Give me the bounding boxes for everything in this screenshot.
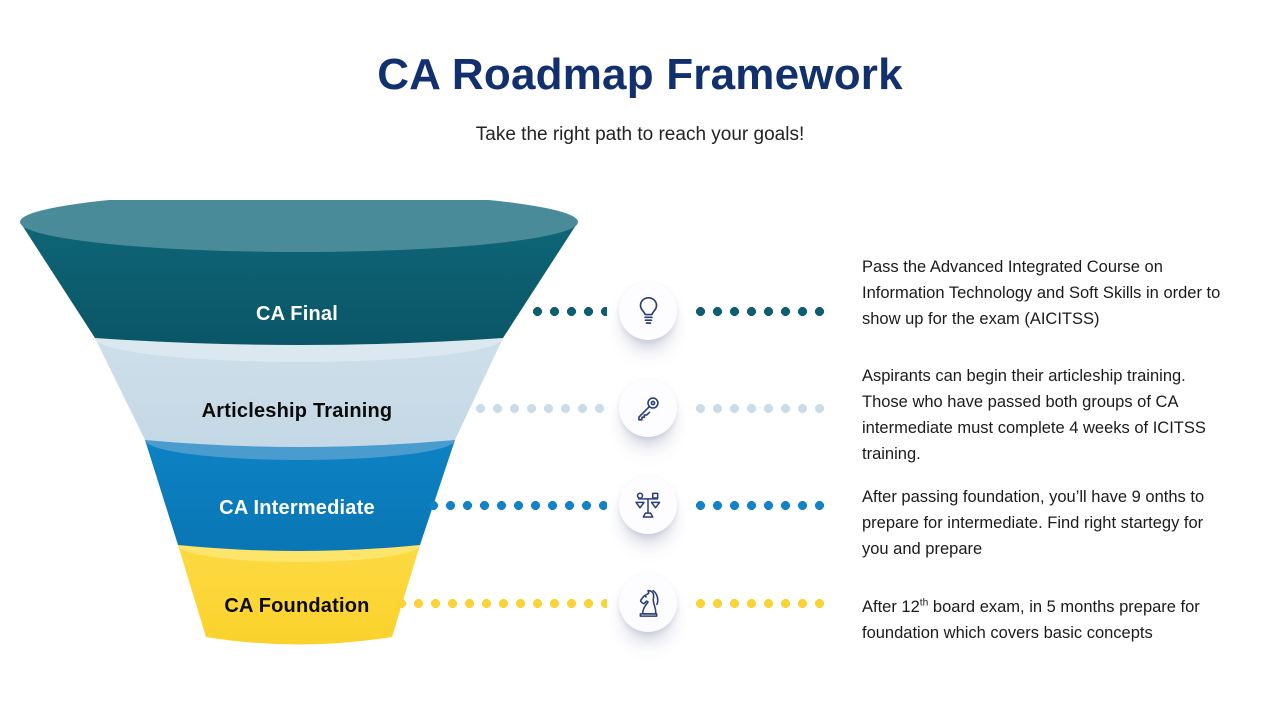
stage-description-ca-intermediate: After passing foundation, you’ll have 9 … <box>862 484 1234 562</box>
stage-icon-bubble-ca-foundation[interactable] <box>619 574 677 632</box>
connector-dots-left-ca-intermediate <box>425 501 607 510</box>
stage-icon-bubble-ca-final[interactable] <box>619 282 677 340</box>
key-icon <box>634 394 662 422</box>
connector-dots-left-articleship-training <box>472 404 607 413</box>
connector-dots-left-ca-final <box>529 307 607 316</box>
funnel-stage-ca-final[interactable] <box>20 200 578 345</box>
connector-dots-right-ca-foundation <box>692 599 825 608</box>
page-subtitle: Take the right path to reach your goals! <box>0 124 1280 146</box>
infographic-canvas: CA Roadmap Framework Take the right path… <box>0 0 1280 720</box>
lightbulb-icon <box>635 296 662 326</box>
connector-dots-right-ca-intermediate <box>692 501 825 510</box>
stage-icon-bubble-articleship-training[interactable] <box>619 379 677 437</box>
stage-description-articleship-training: Aspirants can begin their articleship tr… <box>862 363 1234 467</box>
connector-dots-right-articleship-training <box>692 404 825 413</box>
page-title: CA Roadmap Framework <box>0 52 1280 98</box>
stage-icon-bubble-ca-intermediate[interactable] <box>619 476 677 534</box>
stage-description-ca-final: Pass the Advanced Integrated Course on I… <box>862 254 1234 332</box>
balance-scale-icon <box>634 492 662 519</box>
connector-dots-right-ca-final <box>692 307 825 316</box>
chess-knight-icon <box>635 589 662 618</box>
connector-dots-left-ca-foundation <box>393 599 607 608</box>
stage-description-prefix: After 12 <box>862 598 920 616</box>
stage-description-ca-foundation: After 12th board exam, in 5 months prepa… <box>862 594 1234 646</box>
